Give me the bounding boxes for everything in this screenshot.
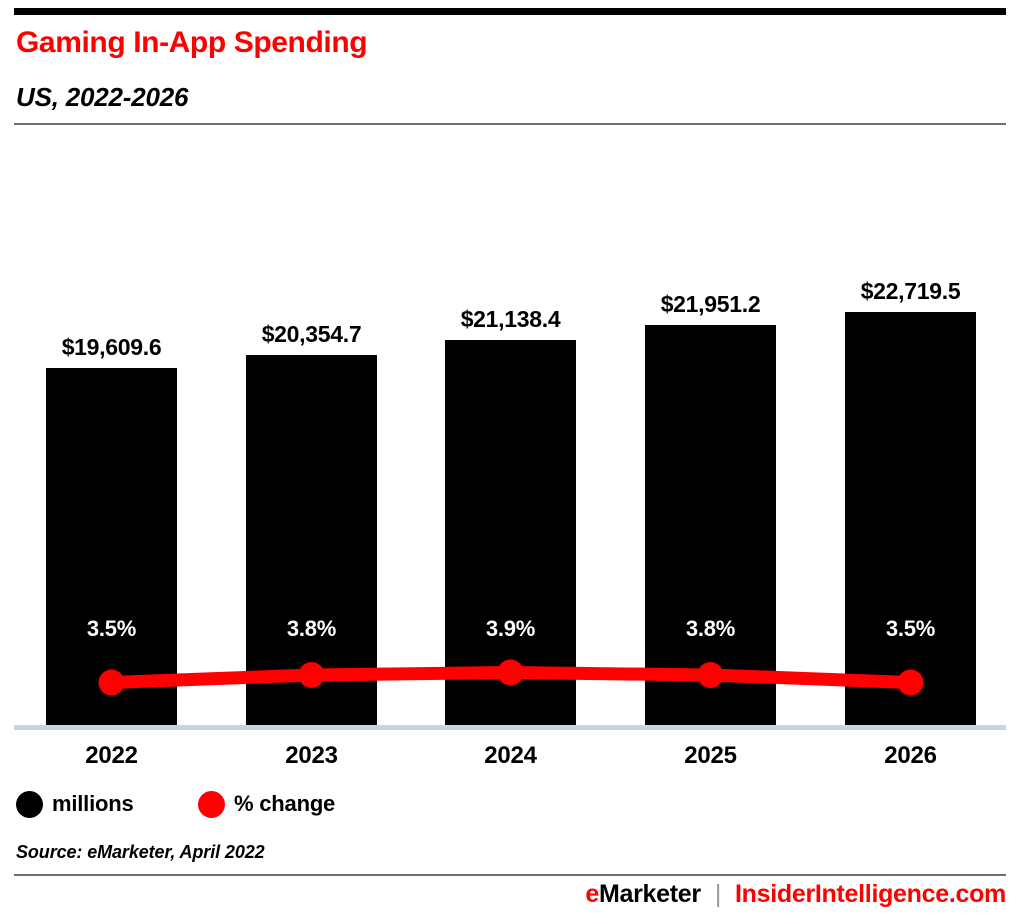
x-axis-baseline — [14, 725, 1006, 730]
chart-plot-area: $19,609.63.5%$20,354.73.8%$21,138.43.9%$… — [0, 140, 1020, 730]
bar-rect[interactable] — [445, 340, 576, 725]
bar-value-label: $22,719.5 — [817, 278, 1004, 305]
x-axis-label: 2024 — [445, 742, 576, 770]
bar-value-label: $19,609.6 — [18, 334, 205, 361]
percent-change-label: 3.5% — [845, 616, 976, 642]
x-axis-label: 2022 — [46, 742, 177, 770]
x-axis-label: 2023 — [246, 742, 377, 770]
black-circle-icon — [16, 791, 43, 818]
bar-rect[interactable] — [46, 368, 177, 725]
bar-group: $19,609.63.5% — [46, 140, 177, 730]
source-note: Source: eMarketer, April 2022 — [16, 842, 265, 863]
percent-change-label: 3.9% — [445, 616, 576, 642]
legend-item-label: % change — [234, 791, 335, 817]
percent-change-label: 3.5% — [46, 616, 177, 642]
x-axis-label: 2026 — [845, 742, 976, 770]
page-title: Gaming In-App Spending — [16, 24, 367, 62]
bar-rect[interactable] — [845, 312, 976, 725]
chart-page: Gaming In-App Spending US, 2022-2026 $19… — [0, 0, 1020, 920]
brand-marketer-text: Marketer — [599, 880, 701, 909]
percent-change-label: 3.8% — [246, 616, 377, 642]
brand-separator: | — [715, 880, 721, 909]
legend-item[interactable]: millions — [16, 788, 134, 820]
bar-value-label: $21,951.2 — [617, 291, 804, 318]
bar-group: $20,354.73.8% — [246, 140, 377, 730]
brand-website-link[interactable]: InsiderIntelligence.com — [735, 880, 1006, 909]
red-circle-icon — [198, 791, 225, 818]
bar-rect[interactable] — [645, 325, 776, 725]
bar-group: $21,138.43.9% — [445, 140, 576, 730]
bar-value-label: $20,354.7 — [218, 321, 405, 348]
page-subtitle: US, 2022-2026 — [16, 80, 188, 114]
brand-e-mark: e — [585, 880, 599, 909]
top-rule-divider — [14, 8, 1006, 15]
x-axis-label: 2025 — [645, 742, 776, 770]
bar-rect[interactable] — [246, 355, 377, 725]
brand-footer: eMarketer | InsiderIntelligence.com — [585, 880, 1006, 909]
legend-item[interactable]: % change — [198, 788, 335, 820]
percent-change-label: 3.8% — [645, 616, 776, 642]
bar-value-label: $21,138.4 — [417, 306, 604, 333]
header-divider — [14, 123, 1006, 125]
bar-group: $21,951.23.8% — [645, 140, 776, 730]
legend-item-label: millions — [52, 791, 134, 817]
bar-group: $22,719.53.5% — [845, 140, 976, 730]
footer-divider — [14, 874, 1006, 876]
